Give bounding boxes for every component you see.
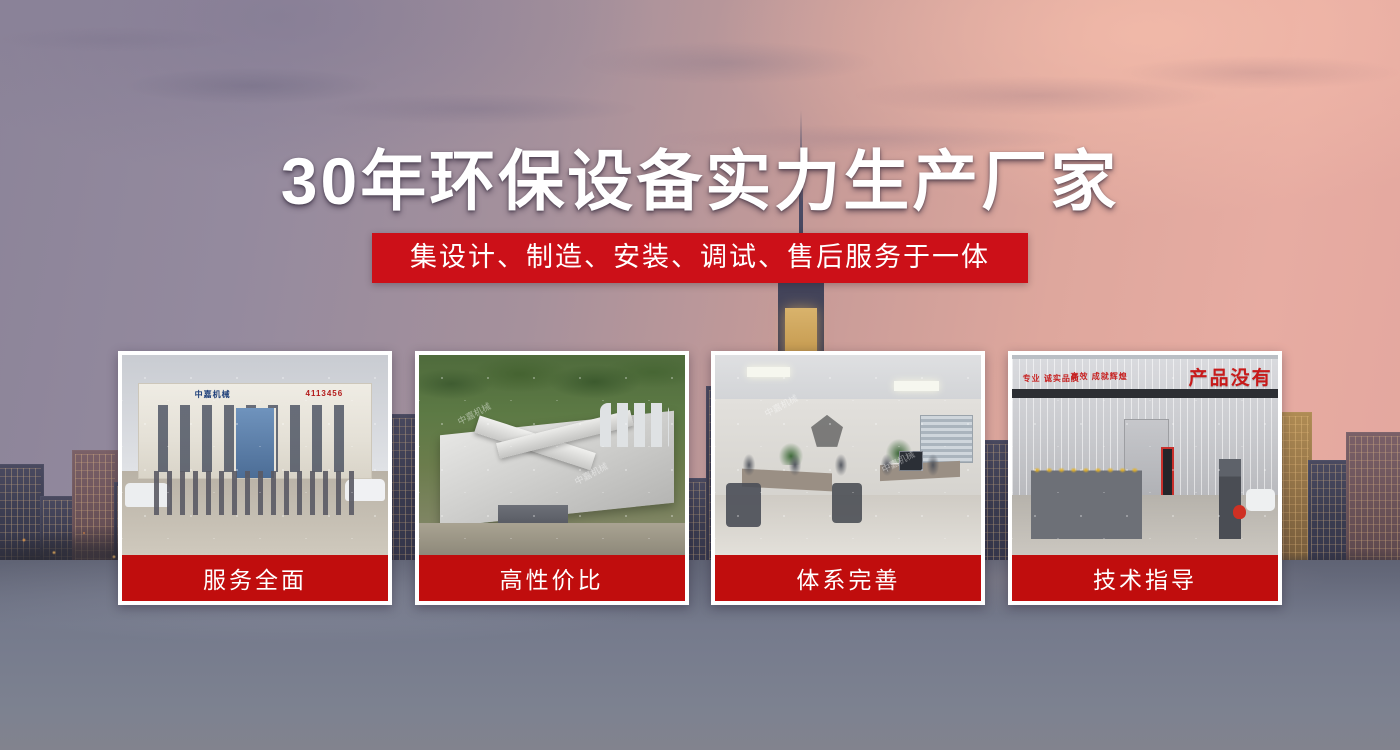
subtitle-banner: 集设计、制造、安装、调试、售后服务于一体 <box>372 233 1028 283</box>
feature-card-training[interactable]: 专业 诚实品质 高效 成就辉煌 产品没有 技术指导 <box>1008 351 1282 605</box>
photo-factory-workers: 专业 诚实品质 高效 成就辉煌 产品没有 <box>1012 355 1278 555</box>
feature-card-system[interactable]: 中嘉机械 中嘉机械 体系完善 <box>711 351 985 605</box>
building-sign-text: 中嘉机械 <box>195 389 231 400</box>
page-title: 30年环保设备实力生产厂家 <box>0 128 1400 224</box>
card-caption: 高性价比 <box>419 555 685 601</box>
feature-card-row: 中嘉机械 4113456 服务全面 中嘉机械 <box>118 351 1282 605</box>
card-caption: 体系完善 <box>715 555 981 601</box>
photo-industrial-plant: 中嘉机械 中嘉机械 <box>419 355 685 555</box>
feature-card-service[interactable]: 中嘉机械 4113456 服务全面 <box>118 351 392 605</box>
factory-sign-text: 产品没有 <box>1189 363 1273 390</box>
promo-banner: 30年环保设备实力生产厂家 集设计、制造、安装、调试、售后服务于一体 中嘉机械 … <box>0 0 1400 750</box>
photo-office-interior: 中嘉机械 中嘉机械 <box>715 355 981 555</box>
feature-card-value[interactable]: 中嘉机械 中嘉机械 高性价比 <box>415 351 689 605</box>
card-caption: 技术指导 <box>1012 555 1278 601</box>
card-caption: 服务全面 <box>122 555 388 601</box>
subtitle-bar-wrapper: 集设计、制造、安装、调试、售后服务于一体 <box>0 233 1400 283</box>
photo-company-headquarters: 中嘉机械 4113456 <box>122 355 388 555</box>
building-phone-text: 4113456 <box>306 389 344 398</box>
factory-slogan-right: 高效 成就辉煌 <box>1070 371 1127 382</box>
